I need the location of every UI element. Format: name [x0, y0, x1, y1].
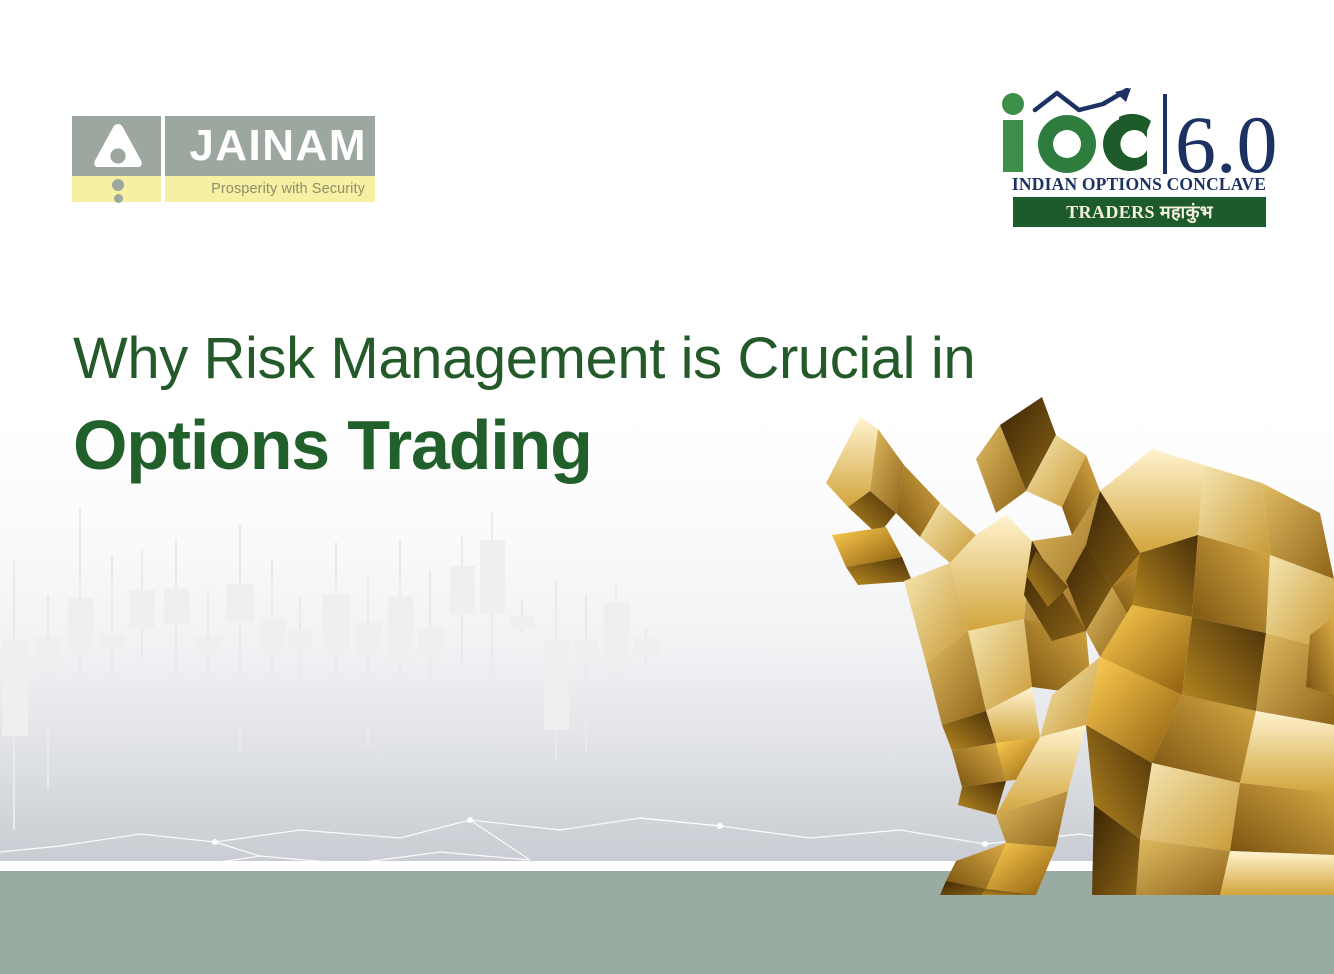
- jainam-triangle-icon: [92, 122, 144, 170]
- jainam-tagline: Prosperity with Security: [176, 177, 371, 201]
- ioc-subtitle: INDIAN OPTIONS CONCLAVE: [995, 172, 1283, 196]
- jainam-logo[interactable]: JAINAM Prosperity with Security: [72, 116, 375, 202]
- ioc-logo[interactable]: 6.0 INDIAN OPTIONS CONCLAVE TRADERS महाक…: [995, 88, 1283, 236]
- headline-line-1: Why Risk Management is Crucial in: [73, 328, 1193, 389]
- poster-canvas: JAINAM Prosperity with Security 6.0 INDI…: [0, 0, 1334, 974]
- jainam-wordmark: JAINAM: [176, 120, 371, 172]
- golden-bull-statue-icon: [800, 395, 1334, 895]
- ioc-tagline-text: TRADERS महाकुंभ: [1066, 200, 1213, 224]
- jainam-dot-large-icon: [112, 179, 124, 191]
- jainam-logo-divider: [161, 116, 165, 202]
- ioc-tagline-band: TRADERS महाकुंभ: [1013, 197, 1266, 227]
- ioc-wordmark-icon: 6.0: [995, 88, 1283, 180]
- svg-text:6.0: 6.0: [1175, 99, 1278, 180]
- growth-arrow-icon: [1035, 90, 1127, 110]
- jainam-dot-small-icon: [114, 194, 123, 203]
